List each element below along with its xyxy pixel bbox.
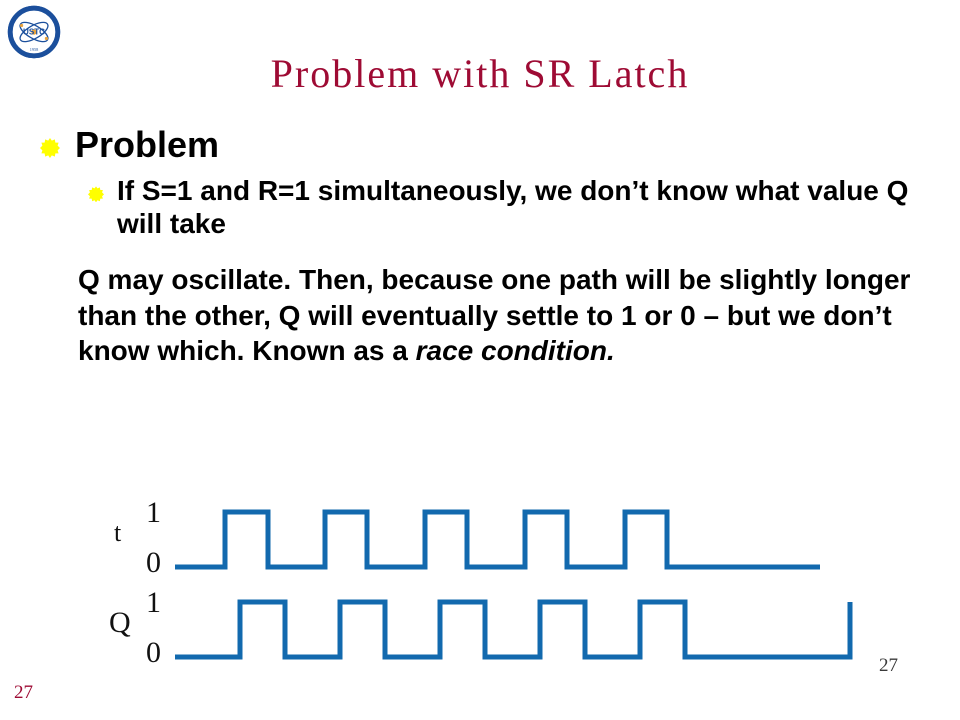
signal-t-low-label: 0 <box>146 548 161 578</box>
bullet-level1: Problem <box>0 125 960 165</box>
page-number-right: 27 <box>879 655 898 677</box>
waveform-trace-q <box>175 602 850 657</box>
bullet-level1-label: Problem <box>75 124 219 165</box>
paragraph-race-condition: Q may oscillate. Then, because one path … <box>0 262 960 369</box>
signal-q-low-label: 0 <box>146 638 161 668</box>
paragraph-emphasis: race condition. <box>416 335 615 366</box>
waveform-svg <box>0 490 960 675</box>
logo-acronym: USTC <box>23 28 45 37</box>
star-bullet-icon <box>40 138 60 158</box>
bullet-level2: If S=1 and R=1 simultaneously, we don’t … <box>0 175 960 239</box>
signal-q-high-label: 1 <box>146 588 161 618</box>
slide-canvas: { "slide": { "title": "Problem with SR L… <box>0 0 960 720</box>
waveform-trace-t <box>175 512 820 567</box>
waveform-diagram: t 1 0 Q 1 0 <box>0 490 960 675</box>
slide-body: Problem If S=1 and R=1 simultaneously, w… <box>0 125 960 369</box>
signal-name-q: Q <box>109 608 131 638</box>
bullet-level2-label: If S=1 and R=1 simultaneously, we don’t … <box>117 175 908 238</box>
page-title: Problem with SR Latch <box>0 50 960 97</box>
signal-t-high-label: 1 <box>146 498 161 528</box>
star-bullet-icon <box>88 186 104 202</box>
signal-name-t: t <box>114 520 121 546</box>
page-number-left: 27 <box>14 682 33 704</box>
